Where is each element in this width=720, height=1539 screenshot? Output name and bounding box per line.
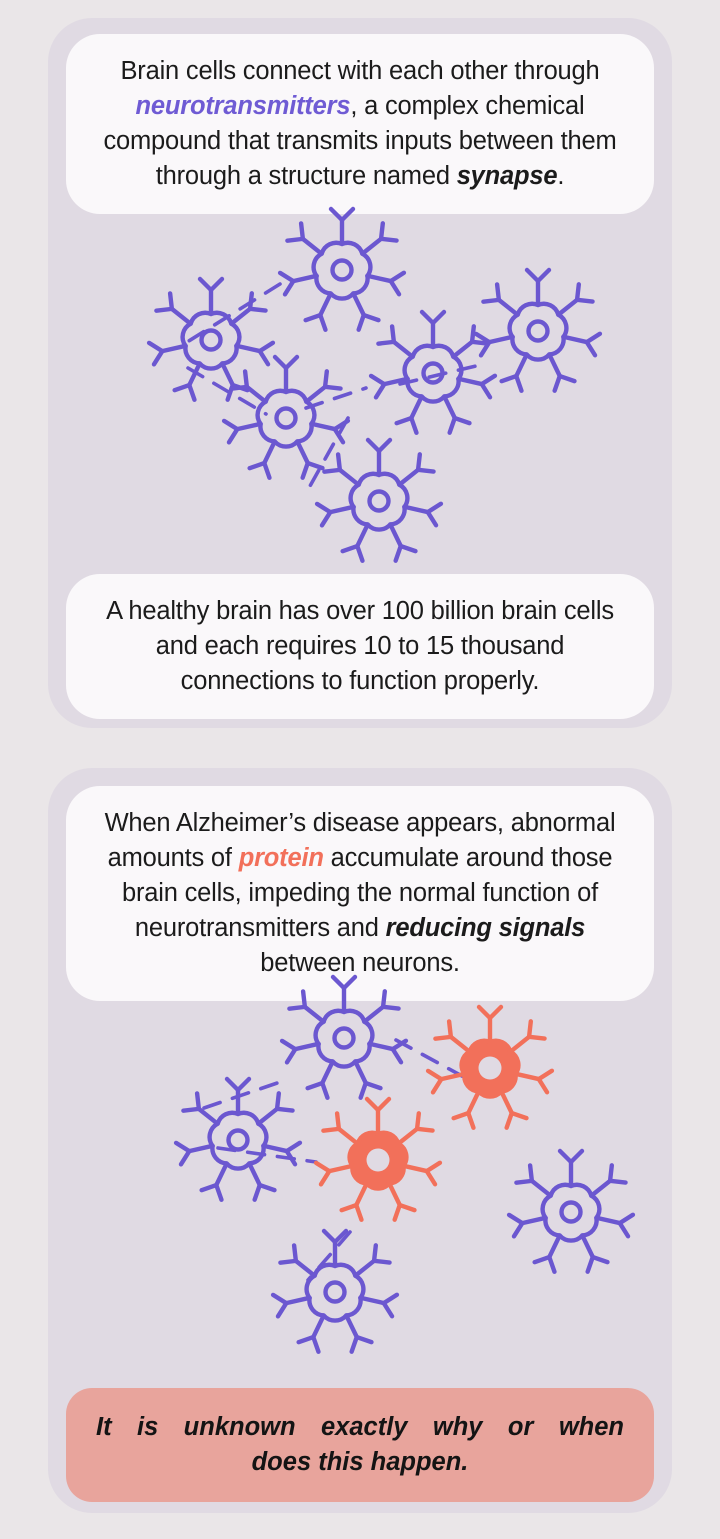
neuron [371, 312, 495, 433]
panel-alzheimers-disease: When Alzheimer’s disease appears, abnorm… [48, 768, 672, 1513]
neuron-affected [316, 1099, 440, 1220]
infographic-page: Brain cells connect with each other thro… [0, 0, 720, 1539]
disease-text-part3: between neurons. [260, 949, 460, 977]
neuron [476, 270, 600, 391]
neuron-affected [428, 1007, 552, 1128]
card-intro-text: Brain cells connect with each other thro… [66, 34, 654, 214]
neuron [509, 1151, 633, 1272]
banner-unknown-cause: It is unknown exactly why or when does t… [66, 1388, 654, 1502]
brain-stats-text: A healthy brain has over 100 billion bra… [92, 594, 628, 699]
accent-neurotransmitters: neurotransmitters [136, 92, 351, 120]
healthy-network-svg [48, 218, 672, 558]
neuron [224, 357, 348, 478]
neuron [176, 1079, 300, 1200]
card-brain-stats: A healthy brain has over 100 billion bra… [66, 574, 654, 719]
banner-line-2: does this happen. [96, 1445, 624, 1480]
emphasis-synapse: synapse [457, 162, 558, 190]
emphasis-reducing-signals: reducing signals [386, 914, 585, 942]
card-disease-text: When Alzheimer’s disease appears, abnorm… [66, 786, 654, 1001]
neuron [282, 977, 406, 1098]
synapse-connections [184, 284, 476, 486]
neuron [149, 279, 273, 400]
healthy-neuron-network-illustration [48, 218, 672, 558]
neuron [317, 440, 441, 561]
neuron [273, 1231, 397, 1352]
panel-healthy-brain: Brain cells connect with each other thro… [48, 18, 672, 728]
intro-text-part1: Brain cells connect with each other thro… [120, 57, 599, 85]
banner-line-1: It is unknown exactly why or when [96, 1410, 624, 1445]
diseased-neuron-network-illustration [48, 980, 672, 1370]
intro-text-part3: . [557, 162, 564, 190]
diseased-network-svg [48, 980, 672, 1370]
neuron [280, 209, 404, 330]
accent-protein: protein [239, 844, 324, 872]
